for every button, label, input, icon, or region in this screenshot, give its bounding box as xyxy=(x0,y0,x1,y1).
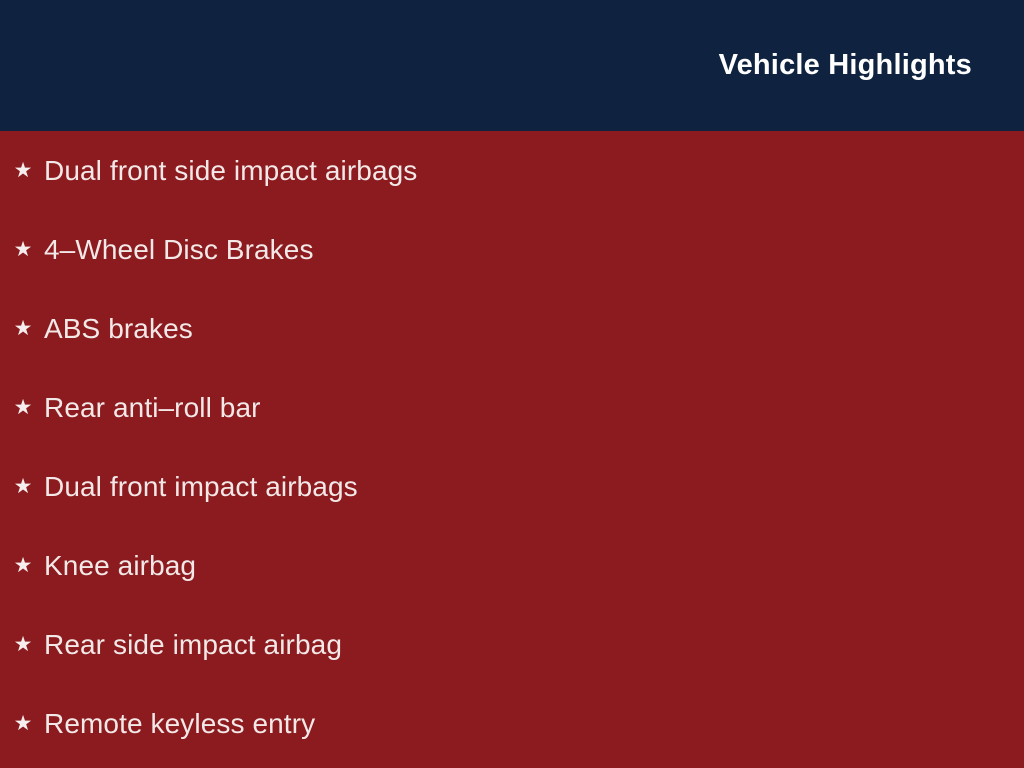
list-item-label: Remote keyless entry xyxy=(44,707,315,741)
star-icon: ★ xyxy=(11,473,35,501)
star-icon: ★ xyxy=(11,236,35,264)
list-item-label: Dual front impact airbags xyxy=(44,470,358,504)
star-icon: ★ xyxy=(11,394,35,422)
star-icon: ★ xyxy=(11,157,35,185)
list-item-label: 4–Wheel Disc Brakes xyxy=(44,233,314,267)
list-item: ★ ABS brakes xyxy=(0,289,1024,368)
list-item: ★ Dual front impact airbags xyxy=(0,447,1024,526)
star-icon: ★ xyxy=(11,552,35,580)
star-icon: ★ xyxy=(11,631,35,659)
list-item: ★ Dual front side impact airbags xyxy=(0,131,1024,210)
list-item: ★ Rear side impact airbag xyxy=(0,605,1024,684)
star-icon: ★ xyxy=(11,315,35,343)
list-item-label: Dual front side impact airbags xyxy=(44,154,417,188)
list-item-label: ABS brakes xyxy=(44,312,193,346)
list-item-label: Rear anti–roll bar xyxy=(44,391,261,425)
list-item-label: Rear side impact airbag xyxy=(44,628,342,662)
star-icon: ★ xyxy=(11,710,35,738)
list-item: ★ Rear anti–roll bar xyxy=(0,368,1024,447)
vehicle-highlights-slide: Vehicle Highlights ★ Dual front side imp… xyxy=(0,0,1024,768)
vehicle-highlights-list: ★ Dual front side impact airbags ★ 4–Whe… xyxy=(0,131,1024,763)
list-item-label: Knee airbag xyxy=(44,549,196,583)
page-title: Vehicle Highlights xyxy=(719,48,972,82)
list-item: ★ 4–Wheel Disc Brakes xyxy=(0,210,1024,289)
list-item: ★ Knee airbag xyxy=(0,526,1024,605)
highlights-body: ★ Dual front side impact airbags ★ 4–Whe… xyxy=(0,131,1024,768)
list-item: ★ Remote keyless entry xyxy=(0,684,1024,763)
header-band: Vehicle Highlights xyxy=(0,0,1024,131)
